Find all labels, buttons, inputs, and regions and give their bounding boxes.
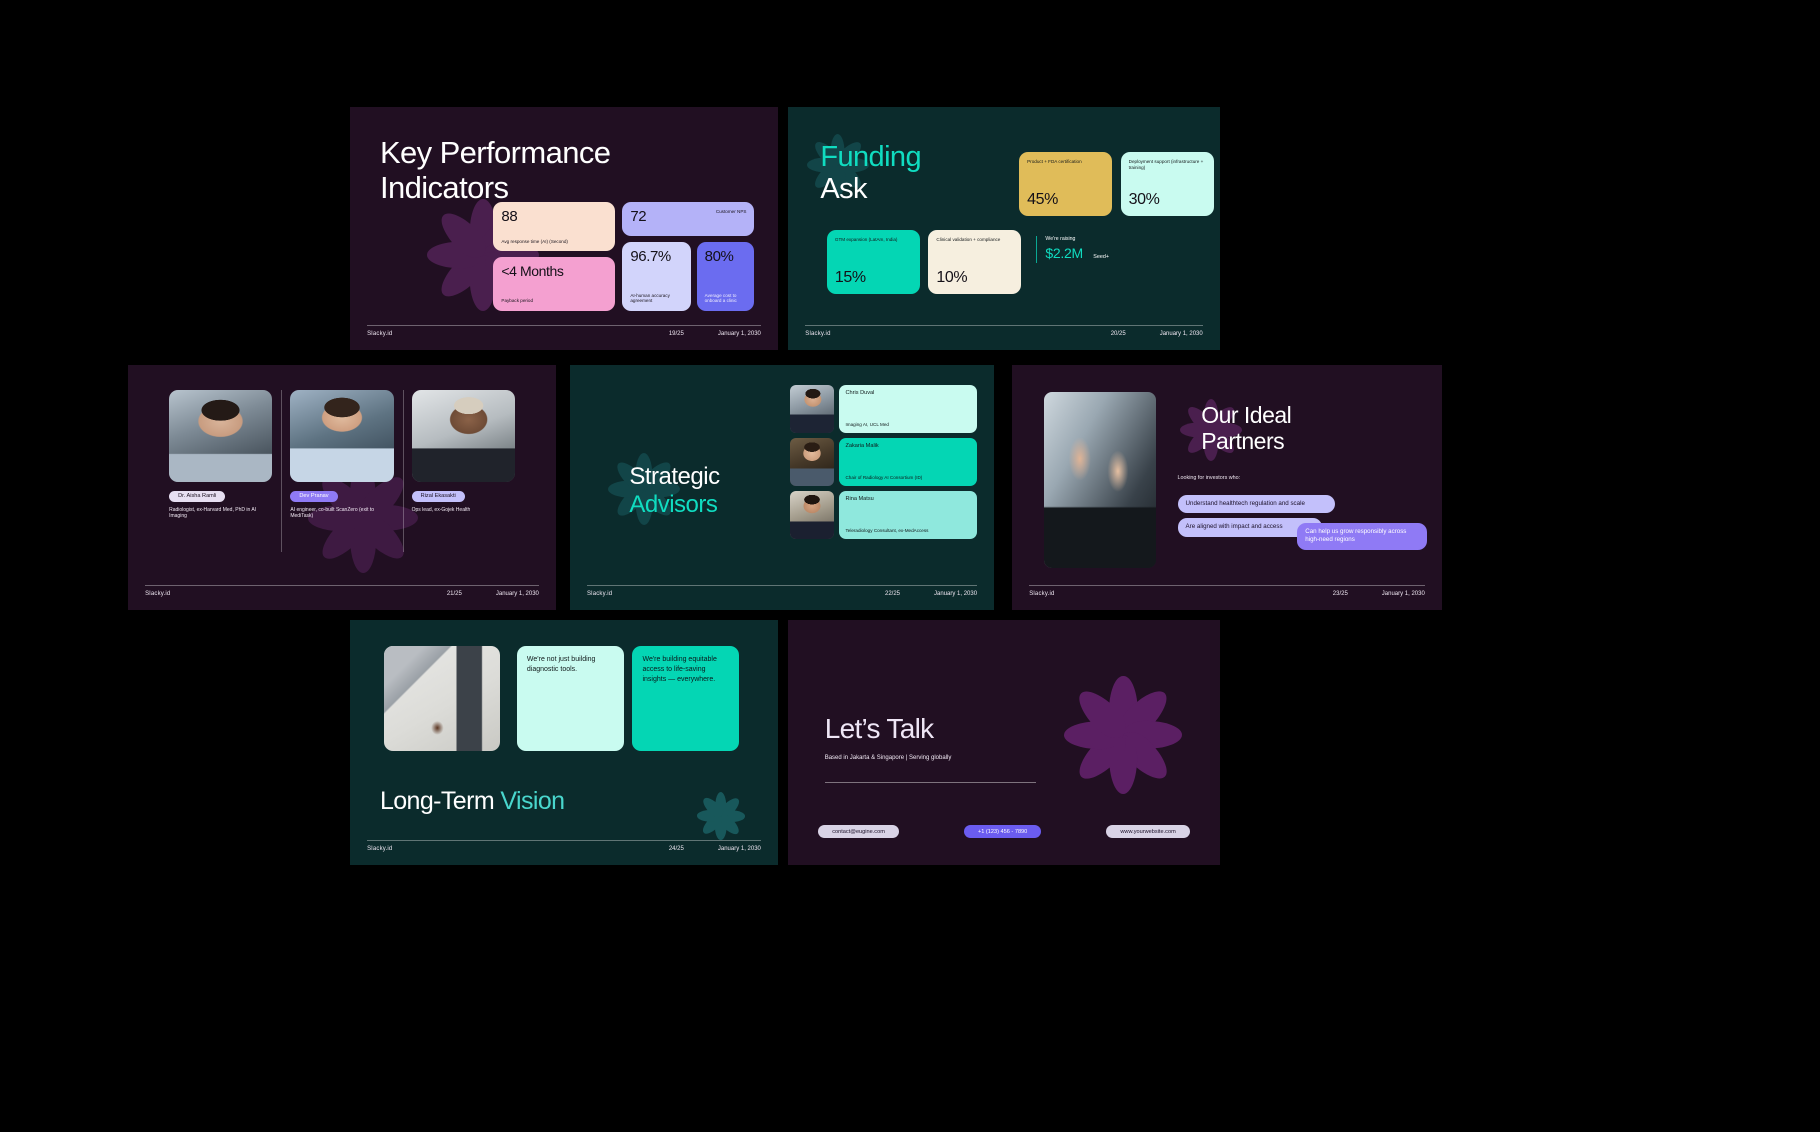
funding-card-clinical-validation[interactable]: Clinical validation + compliance 10% xyxy=(928,230,1021,294)
member-description: Radiologist, ex-Harvard Med, PhD in AI I… xyxy=(169,507,272,521)
title-line-1: Key Performance xyxy=(380,135,611,170)
funding-card-product-fda[interactable]: Product + FDA certification 45% xyxy=(1019,152,1112,216)
kpi-card-onboard-cost[interactable]: 80% Average cost to onboard a clinic xyxy=(697,242,755,311)
page-title: Funding Ask xyxy=(820,142,921,206)
title-line-2: Ask xyxy=(820,174,921,206)
avatar xyxy=(290,390,393,482)
slide-contact[interactable]: Let’s Talk Based in Jakarta & Singapore … xyxy=(788,620,1220,865)
funding-label: Deployment support (infrastructure + tra… xyxy=(1129,159,1206,170)
advisor-name: Chris Duval xyxy=(845,390,971,396)
vision-card-1[interactable]: We're not just building diagnostic tools… xyxy=(517,646,624,751)
team-member[interactable]: Dev Pranav AI engineer, co-built ScanZer… xyxy=(281,390,402,566)
footer-date: January 1, 2030 xyxy=(718,331,761,337)
divider xyxy=(825,782,1037,783)
vision-photo xyxy=(384,646,500,751)
avatar xyxy=(169,390,272,482)
contact-email-pill[interactable]: contact@eugine.com xyxy=(818,825,899,838)
kpi-label: Payback period xyxy=(501,298,607,304)
advisor-role: Chair of Radiology AI Consortium (ID) xyxy=(845,475,971,481)
footer-brand: Slacky.id xyxy=(587,591,612,597)
page-title: Strategic Advisors xyxy=(629,463,719,520)
contact-pill-row: contact@eugine.com +1 (123) 456 - 7890 w… xyxy=(818,825,1190,838)
slide-ideal-partners[interactable]: Our Ideal Partners Looking for investors… xyxy=(1012,365,1442,610)
footer-brand: Slacky.id xyxy=(367,331,392,337)
partners-subtitle: Looking for investors who: xyxy=(1178,475,1241,481)
raising-callout: We're raising $2.2M Seed+ xyxy=(1036,236,1200,263)
partner-criteria-pill[interactable]: Can help us grow responsibly across high… xyxy=(1297,523,1427,549)
team-member-list: Dr. Aisha Ramli Radiologist, ex-Harvard … xyxy=(160,390,524,566)
kpi-value: 80% xyxy=(705,249,747,264)
title-word-2: Vision xyxy=(500,787,564,815)
partners-photo xyxy=(1044,392,1156,568)
advisor-role: Imaging AI, UCL Med xyxy=(845,422,971,428)
kpi-value: 88 xyxy=(501,209,607,224)
avatar xyxy=(790,385,834,433)
kpi-card-grid: 88 Avg response time (AI) (Second) <4 Mo… xyxy=(493,202,754,311)
raising-round: Seed+ xyxy=(1093,254,1109,260)
vision-card-text: We're not just building diagnostic tools… xyxy=(527,656,596,673)
advisor-role: Teleradiology Consultant, ex-MedAccess xyxy=(845,528,971,534)
footer-brand: Slacky.id xyxy=(367,846,392,852)
kpi-card-payback-period[interactable]: <4 Months Payback period xyxy=(493,257,615,311)
vision-card-2[interactable]: We're building equitable access to life-… xyxy=(632,646,739,751)
slide-footer: Slacky.id 22/25 January 1, 2030 xyxy=(587,585,977,597)
raising-label: We're raising xyxy=(1045,236,1200,242)
member-description: Ops lead, ex-Gojek Health xyxy=(412,507,515,514)
avatar xyxy=(790,491,834,539)
footer-page-number: 19/25 xyxy=(669,331,684,337)
slide-team[interactable]: Dr. Aisha Ramli Radiologist, ex-Harvard … xyxy=(128,365,556,610)
contact-website-pill[interactable]: www.yourwebsite.com xyxy=(1106,825,1189,838)
footer-page-number: 23/25 xyxy=(1333,591,1348,597)
funding-value: 45% xyxy=(1027,191,1104,209)
slide-footer: Slacky.id 21/25 January 1, 2030 xyxy=(145,585,539,597)
footer-page-number: 24/25 xyxy=(669,846,684,852)
page-title: Let’s Talk xyxy=(825,713,934,745)
kpi-value: 96.7% xyxy=(630,249,682,264)
member-name-badge: Dev Pranav xyxy=(290,491,337,502)
kpi-label: Customer NPS xyxy=(716,209,747,215)
contact-phone-pill[interactable]: +1 (123) 456 - 7890 xyxy=(964,825,1041,838)
kpi-card-response-time[interactable]: 88 Avg response time (AI) (Second) xyxy=(493,202,615,252)
page-title: Key Performance Indicators xyxy=(380,136,611,205)
title-line-2: Advisors xyxy=(629,491,719,519)
page-title: Our Ideal Partners xyxy=(1201,402,1291,455)
title-line-1: Strategic xyxy=(629,463,719,491)
footer-page-number: 20/25 xyxy=(1111,331,1126,337)
slide-footer: Slacky.id 23/25 January 1, 2030 xyxy=(1029,585,1425,597)
kpi-label: AI-human accuracy agreement xyxy=(630,293,682,304)
title-line-1: Our Ideal xyxy=(1201,402,1291,428)
partner-criteria-list: Understand healthtech regulation and sca… xyxy=(1178,492,1427,536)
team-member[interactable]: Dr. Aisha Ramli Radiologist, ex-Harvard … xyxy=(160,390,281,566)
advisor-list: Chris Duval Imaging AI, UCL Med Zakaria … xyxy=(790,385,977,539)
slide-footer: Slacky.id 19/25 January 1, 2030 xyxy=(367,325,761,337)
slide-key-performance-indicators[interactable]: Key Performance Indicators 88 Avg respon… xyxy=(350,107,778,350)
footer-date: January 1, 2030 xyxy=(496,591,539,597)
advisor-row[interactable]: Rina Matsu Teleradiology Consultant, ex-… xyxy=(790,491,977,539)
footer-date: January 1, 2030 xyxy=(1382,591,1425,597)
footer-brand: Slacky.id xyxy=(805,331,830,337)
footer-brand: Slacky.id xyxy=(145,591,170,597)
funding-label: Clinical validation + compliance xyxy=(936,237,1013,243)
avatar xyxy=(412,390,515,482)
slide-funding-ask[interactable]: Funding Ask Product + FDA certification … xyxy=(788,107,1220,350)
raising-amount: $2.2M xyxy=(1045,245,1082,261)
slide-long-term-vision[interactable]: We're not just building diagnostic tools… xyxy=(350,620,778,865)
funding-value: 15% xyxy=(835,269,912,287)
advisor-name: Rina Matsu xyxy=(845,496,971,502)
vision-card-text: We're building equitable access to life-… xyxy=(642,656,716,683)
footer-date: January 1, 2030 xyxy=(718,846,761,852)
member-name-badge: Dr. Aisha Ramli xyxy=(169,491,225,502)
kpi-value: 72 xyxy=(630,209,646,224)
member-name-badge: Rizal Ekasakti xyxy=(412,491,465,502)
slide-footer: Slacky.id 24/25 January 1, 2030 xyxy=(367,840,761,852)
footer-brand: Slacky.id xyxy=(1029,591,1054,597)
title-line-2: Partners xyxy=(1201,428,1284,454)
member-description: AI engineer, co-built ScanZero (exit to … xyxy=(290,507,393,521)
footer-page-number: 22/25 xyxy=(885,591,900,597)
team-member[interactable]: Rizal Ekasakti Ops lead, ex-Gojek Health xyxy=(403,390,524,566)
kpi-label: Avg response time (AI) (Second) xyxy=(501,239,607,245)
funding-label: Product + FDA certification xyxy=(1027,159,1104,165)
slide-strategic-advisors[interactable]: Strategic Advisors Chris Duval Imaging A… xyxy=(570,365,994,610)
advisor-row[interactable]: Chris Duval Imaging AI, UCL Med xyxy=(790,385,977,433)
funding-card-gtm-expansion[interactable]: GTM expansion (LatAm, India) 15% xyxy=(827,230,920,294)
advisor-card[interactable]: Rina Matsu Teleradiology Consultant, ex-… xyxy=(839,491,977,539)
advisor-card[interactable]: Chris Duval Imaging AI, UCL Med xyxy=(839,385,977,433)
title-line-2: Indicators xyxy=(380,170,508,205)
funding-value: 10% xyxy=(936,269,1013,287)
flower-logo-icon xyxy=(697,792,745,840)
partner-criteria-pill[interactable]: Understand healthtech regulation and sca… xyxy=(1178,495,1335,513)
advisor-row[interactable]: Zakaria Malik Chair of Radiology AI Cons… xyxy=(790,438,977,486)
contact-subtitle: Based in Jakarta & Singapore | Serving g… xyxy=(825,755,952,761)
kpi-card-accuracy-agreement[interactable]: 96.7% AI-human accuracy agreement xyxy=(622,242,690,311)
page-title: Long-Term Vision xyxy=(380,787,565,816)
kpi-card-customer-nps[interactable]: 72 Customer NPS xyxy=(622,202,754,236)
flower-logo-icon xyxy=(1064,676,1182,794)
footer-date: January 1, 2030 xyxy=(1160,331,1203,337)
advisor-name: Zakaria Malik xyxy=(845,443,971,449)
footer-date: January 1, 2030 xyxy=(934,591,977,597)
funding-card-deployment-support[interactable]: Deployment support (infrastructure + tra… xyxy=(1121,152,1214,216)
advisor-card[interactable]: Zakaria Malik Chair of Radiology AI Cons… xyxy=(839,438,977,486)
slide-deck-overview: Key Performance Indicators 88 Avg respon… xyxy=(0,0,1820,1132)
slide-footer: Slacky.id 20/25 January 1, 2030 xyxy=(805,325,1202,337)
kpi-label: Average cost to onboard a clinic xyxy=(705,293,747,304)
avatar xyxy=(790,438,834,486)
footer-page-number: 21/25 xyxy=(447,591,462,597)
kpi-value: <4 Months xyxy=(501,264,607,278)
title-word-1: Long-Term xyxy=(380,787,494,815)
funding-label: GTM expansion (LatAm, India) xyxy=(835,237,912,243)
title-line-1: Funding xyxy=(820,141,921,173)
funding-value: 30% xyxy=(1129,191,1206,209)
